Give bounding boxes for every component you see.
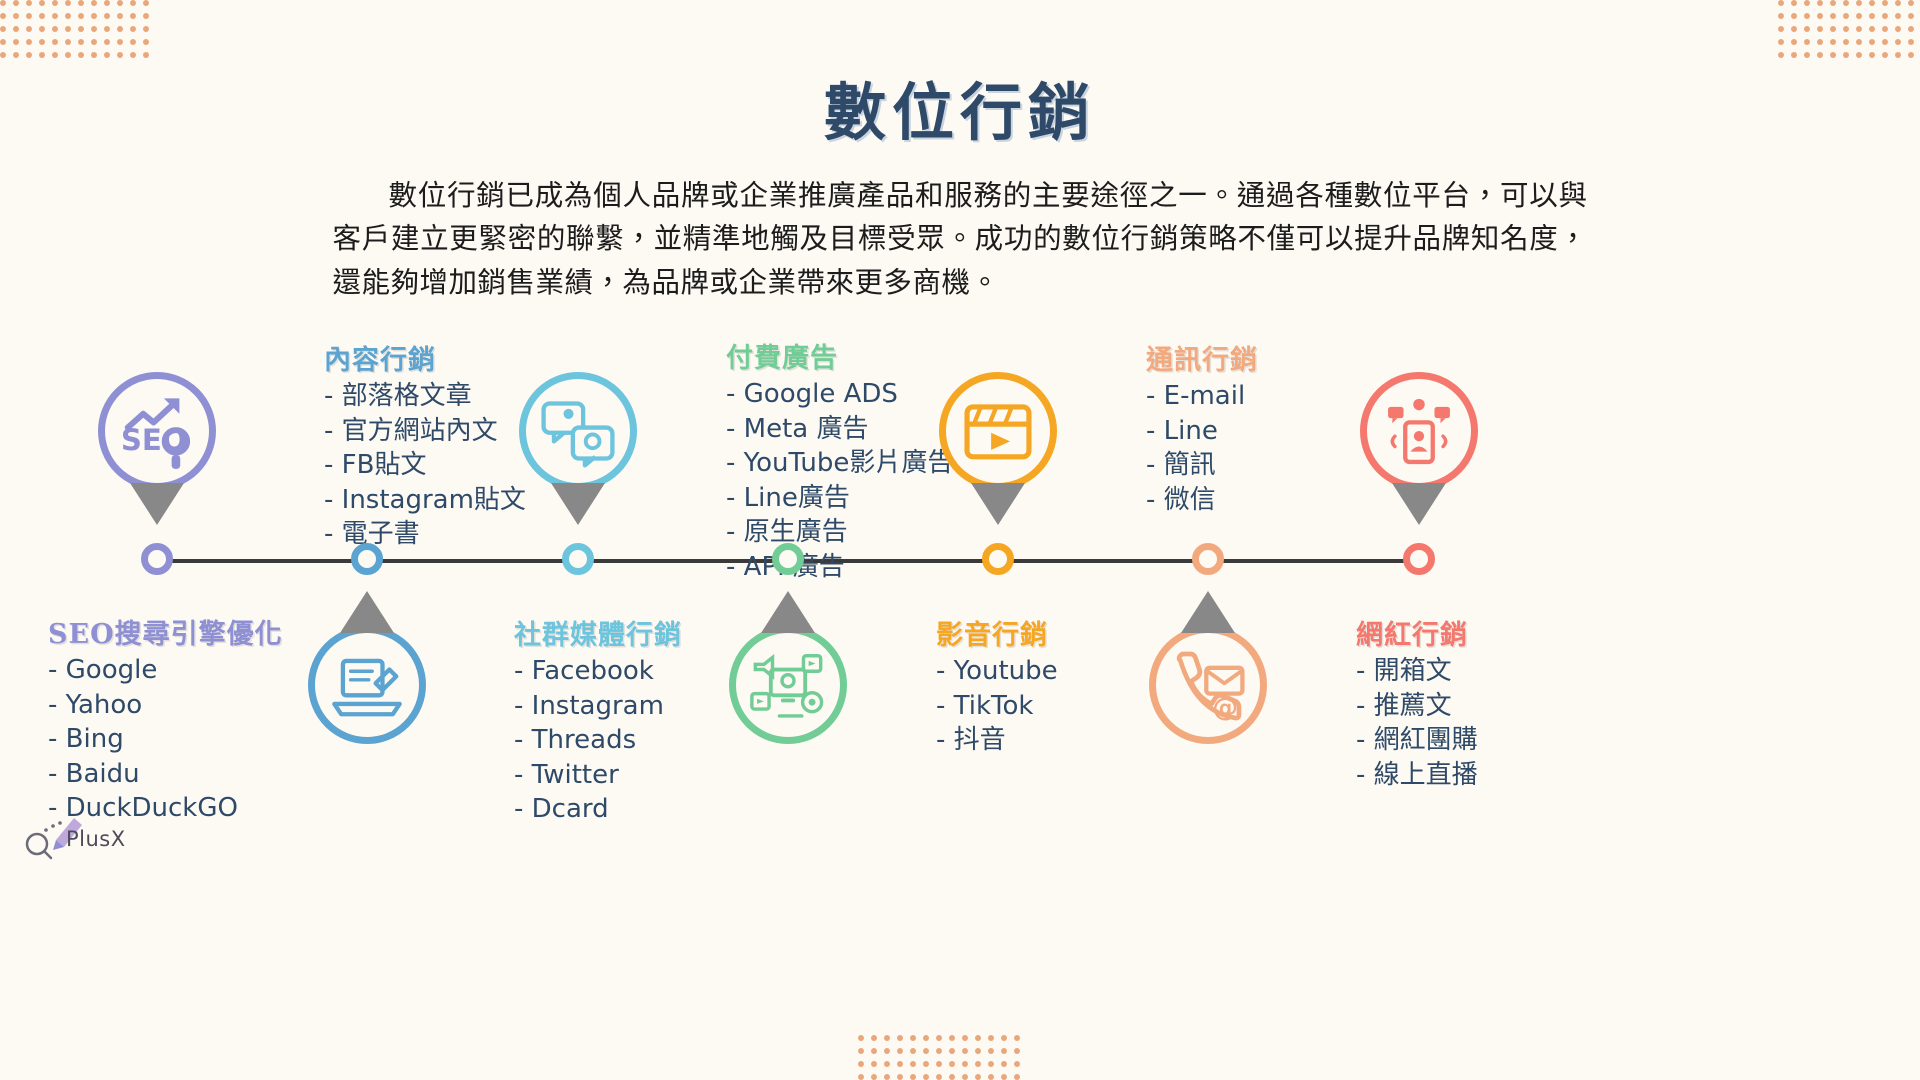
- list-item: 微信: [1146, 483, 1258, 518]
- decorative-dot: [871, 1074, 877, 1080]
- decorative-dot: [962, 1048, 968, 1054]
- decorative-dot: [858, 1048, 864, 1054]
- list-item: 官方網站內文: [324, 414, 526, 449]
- list-item: Line: [1146, 414, 1258, 449]
- list-item: Meta 廣告: [726, 412, 953, 447]
- list-item: TikTok: [936, 689, 1058, 724]
- ads-megaphone-icon: [745, 642, 831, 728]
- decorative-dot: [949, 1035, 955, 1041]
- decorative-dot: [897, 1035, 903, 1041]
- decorative-dot: [962, 1035, 968, 1041]
- section-block-content-marketing: 內容行銷部落格文章官方網站內文FB貼文Instagram貼文電子書: [302, 338, 526, 552]
- section-list-paid-ads: Google ADSMeta 廣告YouTube影片廣告Line廣告原生廣告AP…: [726, 377, 953, 585]
- section-list-communication-marketing: E-mailLine簡訊微信: [1146, 379, 1258, 517]
- decorative-dot: [871, 1061, 877, 1067]
- decorative-dot: [871, 1035, 877, 1041]
- decorative-dot: [884, 1061, 890, 1067]
- list-item: Baidu: [48, 757, 283, 792]
- decorative-dot: [1014, 1035, 1020, 1041]
- decorative-dot: [884, 1074, 890, 1080]
- list-item: Twitter: [514, 758, 682, 793]
- section-title-social-media: 社群媒體行銷: [514, 613, 682, 652]
- section-list-influencer-marketing: 開箱文推薦文網紅團購線上直播: [1356, 654, 1478, 792]
- section-block-social-media: 社群媒體行銷FacebookInstagramThreadsTwitterDca…: [492, 613, 682, 827]
- timeline-node-communication-marketing[interactable]: [1192, 543, 1224, 575]
- decorative-dot: [988, 1048, 994, 1054]
- decorative-dot: [858, 1035, 864, 1041]
- section-block-video-marketing: 影音行銷YoutubeTikTok抖音: [936, 613, 1058, 758]
- list-item: 開箱文: [1356, 654, 1478, 689]
- decorative-dot: [988, 1061, 994, 1067]
- decorative-dot: [897, 1074, 903, 1080]
- pin-marker-seo[interactable]: SEO: [98, 372, 216, 490]
- list-item: Instagram: [514, 689, 682, 724]
- decorative-dot: [923, 1074, 929, 1080]
- ads-megaphone-icon-wrapper: [745, 642, 831, 728]
- timeline-node-video-marketing[interactable]: [982, 543, 1014, 575]
- timeline-node-paid-ads[interactable]: [772, 543, 804, 575]
- header: 數位行銷 數位行銷已成為個人品牌或企業推廣產品和服務的主要途徑之一。通過各種數位…: [0, 0, 1920, 304]
- list-item: Threads: [514, 723, 682, 758]
- pin-marker-communication-marketing[interactable]: @: [1149, 626, 1267, 744]
- list-item: Facebook: [514, 654, 682, 689]
- list-item: APP廣告: [726, 550, 953, 585]
- pin-marker-content-marketing[interactable]: [308, 626, 426, 744]
- pin-marker-video-marketing[interactable]: [939, 372, 1057, 490]
- section-block-communication-marketing: 通訊行銷E-mailLine簡訊微信: [1146, 338, 1258, 517]
- list-item: 抖音: [936, 723, 1058, 758]
- decorative-dot: [975, 1048, 981, 1054]
- pin-marker-social-media[interactable]: [519, 372, 637, 490]
- seo-magnifier-icon: SEO: [114, 388, 200, 474]
- decorative-dot: [988, 1035, 994, 1041]
- decorative-dot: [910, 1048, 916, 1054]
- chat-bubbles-icon: [535, 388, 621, 474]
- list-item: FB貼文: [324, 448, 526, 483]
- decorative-dot: [936, 1074, 942, 1080]
- list-item: YouTube影片廣告: [726, 446, 953, 481]
- decorative-dot: [936, 1035, 942, 1041]
- section-block-paid-ads: 付費廣告Google ADSMeta 廣告YouTube影片廣告Line廣告原生…: [726, 336, 953, 585]
- section-list-social-media: FacebookInstagramThreadsTwitterDcard: [514, 654, 682, 827]
- section-block-influencer-marketing: 網紅行銷開箱文推薦文網紅團購線上直播: [1356, 613, 1478, 792]
- brand-logo: PlusX: [20, 800, 150, 870]
- timeline-node-influencer-marketing[interactable]: [1403, 543, 1435, 575]
- decorative-dot: [1014, 1048, 1020, 1054]
- decorative-dot: [884, 1048, 890, 1054]
- section-title-video-marketing: 影音行銷: [936, 613, 1058, 652]
- video-player-icon-wrapper: [955, 388, 1041, 474]
- decorative-dot: [1001, 1074, 1007, 1080]
- decorative-dot: [988, 1074, 994, 1080]
- section-title-paid-ads: 付費廣告: [726, 336, 953, 375]
- phone-email-icon-wrapper: @: [1165, 642, 1251, 728]
- decorative-dot: [923, 1061, 929, 1067]
- decorative-dot: [975, 1074, 981, 1080]
- decorative-dot: [910, 1061, 916, 1067]
- list-item: 部落格文章: [324, 379, 526, 414]
- section-title-content-marketing: 內容行銷: [324, 338, 526, 377]
- decorative-dot: [949, 1074, 955, 1080]
- seo-magnifier-icon-wrapper: SEO: [114, 388, 200, 474]
- decorative-dot: [884, 1035, 890, 1041]
- laptop-writing-icon-wrapper: [324, 642, 410, 728]
- decorative-dot: [949, 1048, 955, 1054]
- decorative-dot: [1001, 1061, 1007, 1067]
- phone-email-icon: @: [1165, 642, 1251, 728]
- decorative-dot: [936, 1048, 942, 1054]
- video-player-icon: [955, 388, 1041, 474]
- decorative-dot: [936, 1061, 942, 1067]
- decorative-dot: [1001, 1035, 1007, 1041]
- list-item: 網紅團購: [1356, 723, 1478, 758]
- timeline-node-content-marketing[interactable]: [351, 543, 383, 575]
- decorative-dot: [923, 1035, 929, 1041]
- section-title-influencer-marketing: 網紅行銷: [1356, 613, 1478, 652]
- decorative-dot: [962, 1061, 968, 1067]
- svg-text:@: @: [1212, 693, 1238, 723]
- list-item: Google: [48, 653, 283, 688]
- timeline-node-social-media[interactable]: [562, 543, 594, 575]
- decorative-dot: [858, 1074, 864, 1080]
- intro-paragraph: 數位行銷已成為個人品牌或企業推廣產品和服務的主要途徑之一。通過各種數位平台，可以…: [333, 174, 1588, 304]
- section-title-communication-marketing: 通訊行銷: [1146, 338, 1258, 377]
- decorative-dot: [1014, 1074, 1020, 1080]
- list-item: 簡訊: [1146, 448, 1258, 483]
- section-title-seo: SEO搜尋引擎優化: [48, 612, 283, 651]
- decorative-dot: [910, 1035, 916, 1041]
- decorative-dot: [858, 1061, 864, 1067]
- list-item: Youtube: [936, 654, 1058, 689]
- decorative-dot: [949, 1061, 955, 1067]
- decorative-dot: [923, 1048, 929, 1054]
- list-item: 線上直播: [1356, 758, 1478, 793]
- decorative-dot: [897, 1061, 903, 1067]
- pin-marker-influencer-marketing[interactable]: [1360, 372, 1478, 490]
- decorative-dot: [897, 1048, 903, 1054]
- decorative-dot: [871, 1048, 877, 1054]
- list-item: 電子書: [324, 517, 526, 552]
- list-item: Bing: [48, 722, 283, 757]
- list-item: Instagram貼文: [324, 483, 526, 518]
- list-item: Dcard: [514, 792, 682, 827]
- decorative-dot: [962, 1074, 968, 1080]
- page-title: 數位行銷: [0, 0, 1920, 152]
- list-item: Yahoo: [48, 688, 283, 723]
- pin-marker-paid-ads[interactable]: [729, 626, 847, 744]
- decorative-dot: [910, 1074, 916, 1080]
- list-item: 原生廣告: [726, 515, 953, 550]
- list-item: Line廣告: [726, 481, 953, 516]
- section-list-video-marketing: YoutubeTikTok抖音: [936, 654, 1058, 758]
- decorative-dot: [1001, 1048, 1007, 1054]
- decorative-dot: [975, 1035, 981, 1041]
- decorative-dot: [975, 1061, 981, 1067]
- timeline-node-seo[interactable]: [141, 543, 173, 575]
- laptop-writing-icon: [324, 642, 410, 728]
- mobile-influencer-icon: [1376, 388, 1462, 474]
- list-item: 推薦文: [1356, 689, 1478, 724]
- section-list-content-marketing: 部落格文章官方網站內文FB貼文Instagram貼文電子書: [324, 379, 526, 552]
- mobile-influencer-icon-wrapper: [1376, 388, 1462, 474]
- list-item: Google ADS: [726, 377, 953, 412]
- brand-logo-text: PlusX: [66, 827, 126, 851]
- chat-bubbles-icon-wrapper: [535, 388, 621, 474]
- section-block-seo: SEO搜尋引擎優化GoogleYahooBingBaiduDuckDuckGO: [48, 612, 283, 826]
- decorative-dot: [1014, 1061, 1020, 1067]
- list-item: E-mail: [1146, 379, 1258, 414]
